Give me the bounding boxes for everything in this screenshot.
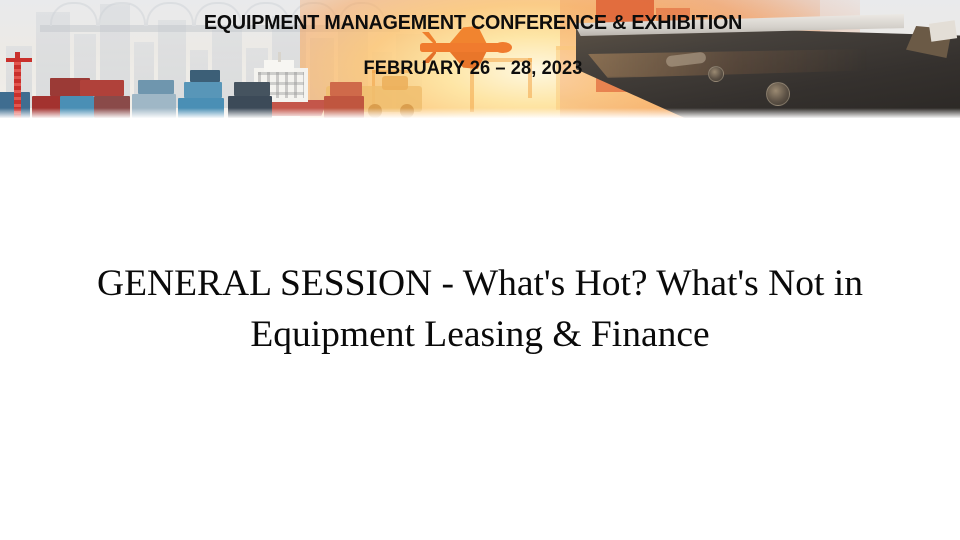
slide-title-line-2: Equipment Leasing & Finance [36,309,924,360]
conference-dates: FEBRUARY 26 – 28, 2023 [19,58,927,80]
banner-text-group: EQUIPMENT MANAGEMENT CONFERENCE & EXHIBI… [0,0,960,118]
conference-header-banner: EQUIPMENT MANAGEMENT CONFERENCE & EXHIBI… [0,0,960,118]
slide-title-line-1: GENERAL SESSION - What's Hot? What's Not… [36,258,924,309]
presentation-slide: EQUIPMENT MANAGEMENT CONFERENCE & EXHIBI… [0,0,960,540]
slide-title-block: GENERAL SESSION - What's Hot? What's Not… [36,258,924,360]
conference-title: EQUIPMENT MANAGEMENT CONFERENCE & EXHIBI… [19,11,927,35]
